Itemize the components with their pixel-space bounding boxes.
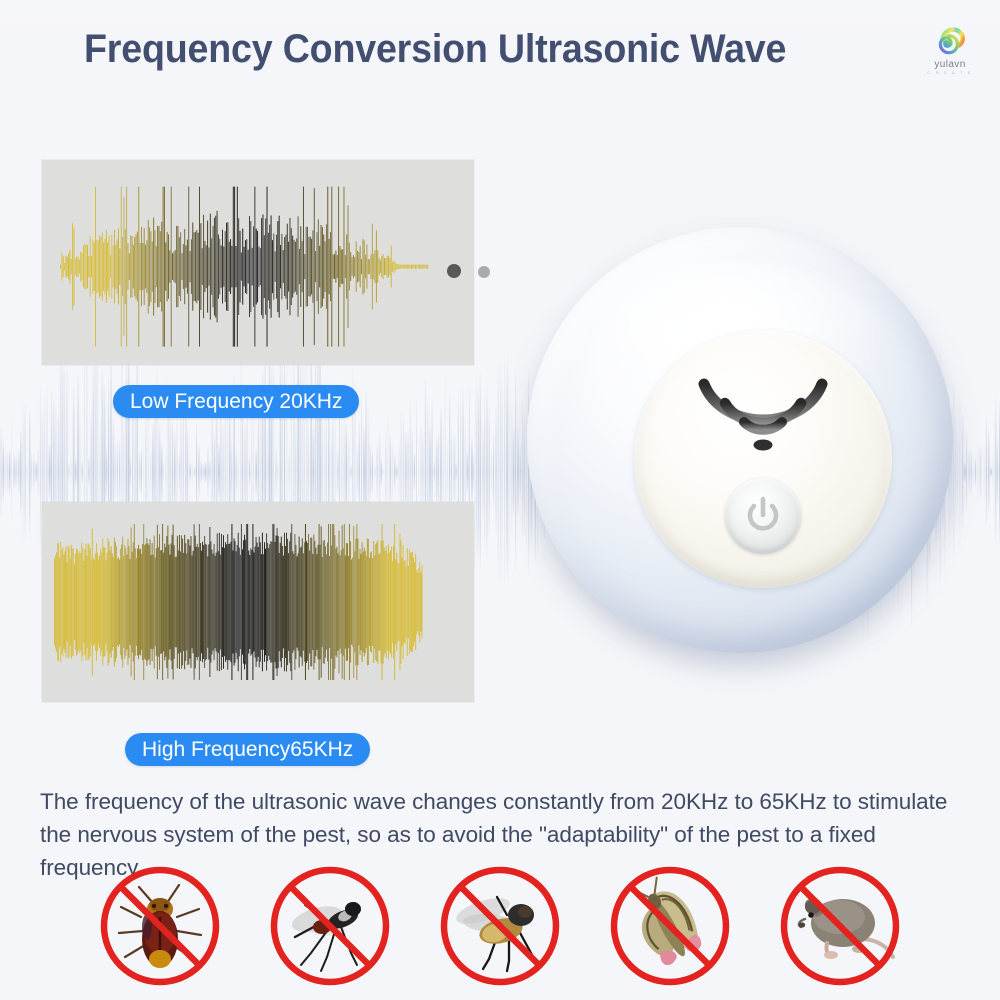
- ultrasonic-pest-repeller-device: [505, 205, 975, 675]
- high-frequency-label: High Frequency65KHz: [125, 733, 370, 766]
- no-fly-icon: [435, 861, 565, 991]
- power-icon: [741, 494, 785, 538]
- no-cockroach-icon: [95, 861, 225, 991]
- page-title: Frequency Conversion Ultrasonic Wave: [84, 26, 874, 72]
- brand-name: yulavn: [920, 59, 980, 70]
- low-frequency-waveform-panel: [42, 160, 474, 365]
- waveform-end-dot-secondary: [478, 266, 490, 278]
- chameleon-spiral-logo-icon: [933, 24, 967, 58]
- brand-logo: yulavn C R E A T E: [920, 24, 980, 84]
- device-outer-ring: [527, 227, 953, 653]
- high-frequency-waveform-panel: [42, 502, 474, 702]
- no-mosquito-icon: [265, 861, 395, 991]
- header: Frequency Conversion Ultrasonic Wave: [0, 0, 1000, 92]
- device-face: [634, 330, 892, 588]
- no-mouse-icon: [775, 861, 905, 991]
- brand-sub: C R E A T E: [920, 70, 980, 75]
- power-button[interactable]: [725, 478, 801, 554]
- pest-icon-row: [0, 858, 1000, 993]
- no-moth-icon: [605, 861, 735, 991]
- low-frequency-label: Low Frequency 20KHz: [113, 385, 359, 418]
- sonar-waves-icon: [694, 372, 832, 460]
- waveform-end-dot-primary: [447, 264, 461, 278]
- product-infographic: Frequency Conversion Ultrasonic Wave: [0, 0, 1000, 1000]
